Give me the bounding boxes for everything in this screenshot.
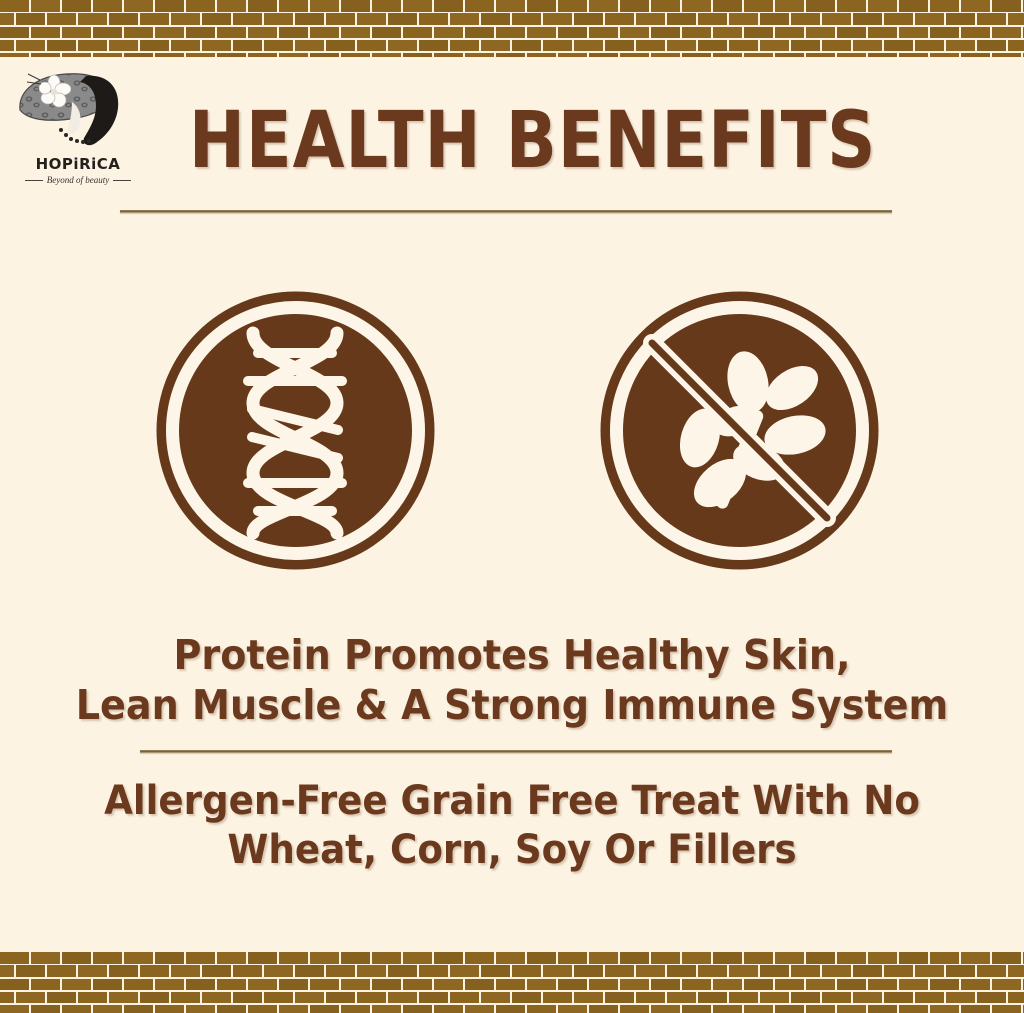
brick xyxy=(0,13,14,25)
brick xyxy=(543,965,572,977)
brick xyxy=(31,53,60,57)
brick xyxy=(186,27,215,39)
brick xyxy=(264,13,293,25)
brick xyxy=(558,979,587,991)
brick xyxy=(806,979,835,991)
brick xyxy=(899,1005,928,1013)
brick xyxy=(744,952,773,964)
brick xyxy=(946,992,975,1004)
brick xyxy=(403,952,432,964)
brick xyxy=(93,0,122,12)
brick xyxy=(868,1005,897,1013)
brick xyxy=(589,27,618,39)
tagline-dash-left xyxy=(25,180,43,181)
brick xyxy=(574,992,603,1004)
brick xyxy=(822,992,851,1004)
brick xyxy=(682,27,711,39)
brick xyxy=(434,952,463,964)
health-benefits-poster: HOPiRiCA Beyond of beauty HEALTH BENEFIT… xyxy=(0,0,1024,1013)
brick xyxy=(558,0,587,12)
brick xyxy=(109,965,138,977)
brick xyxy=(760,992,789,1004)
brick xyxy=(899,27,928,39)
brick xyxy=(186,952,215,964)
brick xyxy=(1008,40,1024,52)
brick xyxy=(744,979,773,991)
brick xyxy=(16,13,45,25)
divider-between-benefits xyxy=(140,750,892,753)
brick xyxy=(279,0,308,12)
brick xyxy=(109,992,138,1004)
brick xyxy=(977,13,1006,25)
brick xyxy=(155,1005,184,1013)
brick xyxy=(527,27,556,39)
brick xyxy=(465,952,494,964)
brick xyxy=(822,965,851,977)
brick xyxy=(884,13,913,25)
brick xyxy=(915,13,944,25)
brick xyxy=(0,979,29,991)
brick xyxy=(729,13,758,25)
brick xyxy=(992,979,1021,991)
brick xyxy=(853,965,882,977)
brick xyxy=(171,992,200,1004)
brick xyxy=(744,0,773,12)
top-brick-border xyxy=(0,0,1024,57)
brick xyxy=(961,952,990,964)
brick xyxy=(419,13,448,25)
brick xyxy=(186,0,215,12)
brick xyxy=(140,992,169,1004)
brick xyxy=(279,53,308,57)
brick xyxy=(233,992,262,1004)
brick xyxy=(992,952,1021,964)
brick xyxy=(775,1005,804,1013)
brick xyxy=(961,1005,990,1013)
brick-row xyxy=(0,1005,1024,1013)
brick xyxy=(512,40,541,52)
brick xyxy=(961,53,990,57)
brick xyxy=(791,992,820,1004)
brick xyxy=(78,992,107,1004)
brick xyxy=(155,27,184,39)
brick xyxy=(992,0,1021,12)
brick xyxy=(651,0,680,12)
brick xyxy=(357,992,386,1004)
brick xyxy=(496,0,525,12)
brick xyxy=(698,965,727,977)
brick xyxy=(62,27,91,39)
brick xyxy=(450,965,479,977)
brick xyxy=(496,27,525,39)
brick xyxy=(667,13,696,25)
brick xyxy=(388,40,417,52)
brick xyxy=(155,53,184,57)
brick xyxy=(729,40,758,52)
brick xyxy=(357,965,386,977)
brick xyxy=(589,979,618,991)
brick xyxy=(372,952,401,964)
brick xyxy=(0,40,14,52)
brick xyxy=(450,13,479,25)
brick xyxy=(279,952,308,964)
brick xyxy=(295,13,324,25)
brick xyxy=(357,40,386,52)
brick xyxy=(0,992,14,1004)
brick xyxy=(372,27,401,39)
brick xyxy=(899,0,928,12)
brick xyxy=(698,13,727,25)
brick xyxy=(264,965,293,977)
brick xyxy=(977,40,1006,52)
brick xyxy=(868,27,897,39)
brick xyxy=(744,53,773,57)
brick xyxy=(651,952,680,964)
brick xyxy=(481,40,510,52)
brick xyxy=(372,979,401,991)
brick xyxy=(202,965,231,977)
brick xyxy=(682,952,711,964)
brick xyxy=(93,979,122,991)
brick xyxy=(744,1005,773,1013)
brick xyxy=(388,13,417,25)
brick xyxy=(233,13,262,25)
brick xyxy=(264,992,293,1004)
brick xyxy=(822,13,851,25)
brick xyxy=(651,53,680,57)
brick xyxy=(310,53,339,57)
brick xyxy=(419,40,448,52)
brick xyxy=(0,1005,29,1013)
brick xyxy=(930,53,959,57)
brick xyxy=(930,979,959,991)
brick xyxy=(403,0,432,12)
brick xyxy=(946,13,975,25)
page-title: HEALTH BENEFITS xyxy=(72,101,953,181)
brick-row xyxy=(0,40,1024,52)
brick xyxy=(496,979,525,991)
brick xyxy=(589,0,618,12)
brick xyxy=(326,992,355,1004)
brick xyxy=(186,1005,215,1013)
brick xyxy=(977,965,1006,977)
brick xyxy=(930,27,959,39)
brick xyxy=(310,27,339,39)
brick xyxy=(248,53,277,57)
brick xyxy=(574,40,603,52)
brick xyxy=(729,965,758,977)
no-grain-icon xyxy=(596,287,883,574)
brick xyxy=(388,965,417,977)
brick xyxy=(434,1005,463,1013)
brick xyxy=(450,992,479,1004)
brick xyxy=(450,40,479,52)
brick xyxy=(217,979,246,991)
brick xyxy=(651,979,680,991)
brick xyxy=(186,979,215,991)
brick xyxy=(0,0,29,12)
protein-benefit-text: Protein Promotes Healthy Skin, Lean Musc… xyxy=(36,630,988,730)
brick xyxy=(620,952,649,964)
brick xyxy=(589,952,618,964)
brick xyxy=(620,53,649,57)
brick xyxy=(295,965,324,977)
brick xyxy=(558,53,587,57)
brick xyxy=(16,40,45,52)
brick xyxy=(217,27,246,39)
brick xyxy=(31,952,60,964)
brick xyxy=(868,979,897,991)
brick xyxy=(248,952,277,964)
brick xyxy=(729,992,758,1004)
brick xyxy=(295,992,324,1004)
brick xyxy=(884,965,913,977)
brick xyxy=(481,13,510,25)
brick xyxy=(527,0,556,12)
brick xyxy=(760,13,789,25)
brick xyxy=(682,979,711,991)
brick xyxy=(434,979,463,991)
brick xyxy=(713,979,742,991)
brick xyxy=(31,979,60,991)
brick xyxy=(853,13,882,25)
brick-row xyxy=(0,965,1024,977)
brick xyxy=(93,1005,122,1013)
brick xyxy=(403,1005,432,1013)
brick xyxy=(977,992,1006,1004)
brick xyxy=(140,40,169,52)
brick xyxy=(93,53,122,57)
brick xyxy=(713,0,742,12)
benefit-line: Lean Muscle & A Strong Immune System xyxy=(36,680,988,730)
brick xyxy=(713,27,742,39)
brick xyxy=(512,965,541,977)
brick xyxy=(0,27,29,39)
brick xyxy=(403,979,432,991)
brick xyxy=(248,0,277,12)
brick xyxy=(434,27,463,39)
brick xyxy=(481,992,510,1004)
brick xyxy=(62,1005,91,1013)
brick xyxy=(589,53,618,57)
brick xyxy=(233,40,262,52)
brick xyxy=(0,952,29,964)
brick xyxy=(465,979,494,991)
brick xyxy=(217,0,246,12)
brick xyxy=(465,1005,494,1013)
brick xyxy=(109,40,138,52)
brick-row xyxy=(0,53,1024,57)
brick xyxy=(806,952,835,964)
brick xyxy=(698,992,727,1004)
brick-row xyxy=(0,992,1024,1004)
brick xyxy=(682,53,711,57)
brick xyxy=(310,0,339,12)
brick xyxy=(853,40,882,52)
brick xyxy=(109,13,138,25)
brick xyxy=(651,1005,680,1013)
brick xyxy=(47,992,76,1004)
brick xyxy=(806,1005,835,1013)
brick xyxy=(248,979,277,991)
brick xyxy=(744,27,773,39)
bottom-brick-border xyxy=(0,952,1024,1013)
brick xyxy=(930,0,959,12)
brick xyxy=(636,13,665,25)
brick xyxy=(620,0,649,12)
brick xyxy=(760,965,789,977)
brick xyxy=(806,27,835,39)
brick xyxy=(372,0,401,12)
brick xyxy=(775,27,804,39)
brick xyxy=(496,952,525,964)
brick xyxy=(512,992,541,1004)
brick xyxy=(155,952,184,964)
brick xyxy=(481,965,510,977)
brick xyxy=(605,992,634,1004)
benefit-icons-row xyxy=(0,287,1024,577)
brick xyxy=(124,1005,153,1013)
brick xyxy=(465,27,494,39)
brick xyxy=(574,965,603,977)
brick xyxy=(1008,965,1024,977)
brick xyxy=(310,979,339,991)
brick xyxy=(791,13,820,25)
brick xyxy=(620,27,649,39)
brick xyxy=(78,13,107,25)
brick xyxy=(341,1005,370,1013)
brick xyxy=(31,1005,60,1013)
brick xyxy=(310,952,339,964)
brick xyxy=(574,13,603,25)
brick xyxy=(992,1005,1021,1013)
brick xyxy=(279,27,308,39)
brick xyxy=(1008,13,1024,25)
brick xyxy=(1008,992,1024,1004)
brick xyxy=(93,27,122,39)
brick xyxy=(713,1005,742,1013)
brick xyxy=(217,952,246,964)
brick xyxy=(124,952,153,964)
brick xyxy=(78,40,107,52)
brick xyxy=(837,979,866,991)
brick xyxy=(868,0,897,12)
brick xyxy=(372,53,401,57)
brick xyxy=(217,1005,246,1013)
brick xyxy=(822,40,851,52)
brick xyxy=(388,992,417,1004)
brick xyxy=(434,53,463,57)
brick xyxy=(558,1005,587,1013)
brick xyxy=(264,40,293,52)
brick xyxy=(775,952,804,964)
brick xyxy=(775,53,804,57)
brick xyxy=(326,965,355,977)
brick xyxy=(202,992,231,1004)
brick xyxy=(279,979,308,991)
brick xyxy=(806,53,835,57)
brick xyxy=(155,0,184,12)
brick xyxy=(124,53,153,57)
brick xyxy=(775,0,804,12)
brick xyxy=(527,952,556,964)
brick xyxy=(605,965,634,977)
brick xyxy=(310,1005,339,1013)
brick xyxy=(915,965,944,977)
brick xyxy=(527,53,556,57)
brick xyxy=(372,1005,401,1013)
brick xyxy=(512,13,541,25)
brick xyxy=(899,952,928,964)
brick xyxy=(465,0,494,12)
brick-row xyxy=(0,27,1024,39)
brick xyxy=(636,992,665,1004)
brick xyxy=(837,952,866,964)
brick xyxy=(760,40,789,52)
brick xyxy=(899,979,928,991)
brick xyxy=(589,1005,618,1013)
brick xyxy=(171,965,200,977)
benefit-line: Protein Promotes Healthy Skin, xyxy=(36,630,988,680)
benefit-line: Wheat, Corn, Soy Or Fillers xyxy=(36,826,988,875)
brick xyxy=(961,27,990,39)
brick xyxy=(47,965,76,977)
brick xyxy=(140,965,169,977)
brick-row xyxy=(0,979,1024,991)
brick xyxy=(326,40,355,52)
brick xyxy=(651,27,680,39)
brick xyxy=(806,0,835,12)
brick xyxy=(837,0,866,12)
brick xyxy=(791,40,820,52)
brick xyxy=(682,0,711,12)
brick xyxy=(419,965,448,977)
brick xyxy=(930,1005,959,1013)
brick xyxy=(605,40,634,52)
brick xyxy=(403,53,432,57)
brick xyxy=(543,40,572,52)
brick xyxy=(248,1005,277,1013)
brick xyxy=(868,952,897,964)
brick xyxy=(837,53,866,57)
brick xyxy=(605,13,634,25)
brick xyxy=(620,1005,649,1013)
brick xyxy=(543,13,572,25)
dna-helix-icon xyxy=(152,287,439,574)
brick xyxy=(961,979,990,991)
brick xyxy=(465,53,494,57)
brick-row xyxy=(0,952,1024,964)
brick xyxy=(217,53,246,57)
brick xyxy=(884,992,913,1004)
brick xyxy=(636,965,665,977)
brick xyxy=(31,0,60,12)
brick-row xyxy=(0,13,1024,25)
brick xyxy=(140,13,169,25)
brick xyxy=(868,53,897,57)
brick xyxy=(31,27,60,39)
brick xyxy=(419,992,448,1004)
divider-under-title xyxy=(120,210,892,213)
brick xyxy=(341,0,370,12)
brick xyxy=(558,952,587,964)
brick xyxy=(434,0,463,12)
brick xyxy=(837,27,866,39)
brick xyxy=(899,53,928,57)
brick-row xyxy=(0,0,1024,12)
brick xyxy=(341,979,370,991)
brick xyxy=(62,53,91,57)
